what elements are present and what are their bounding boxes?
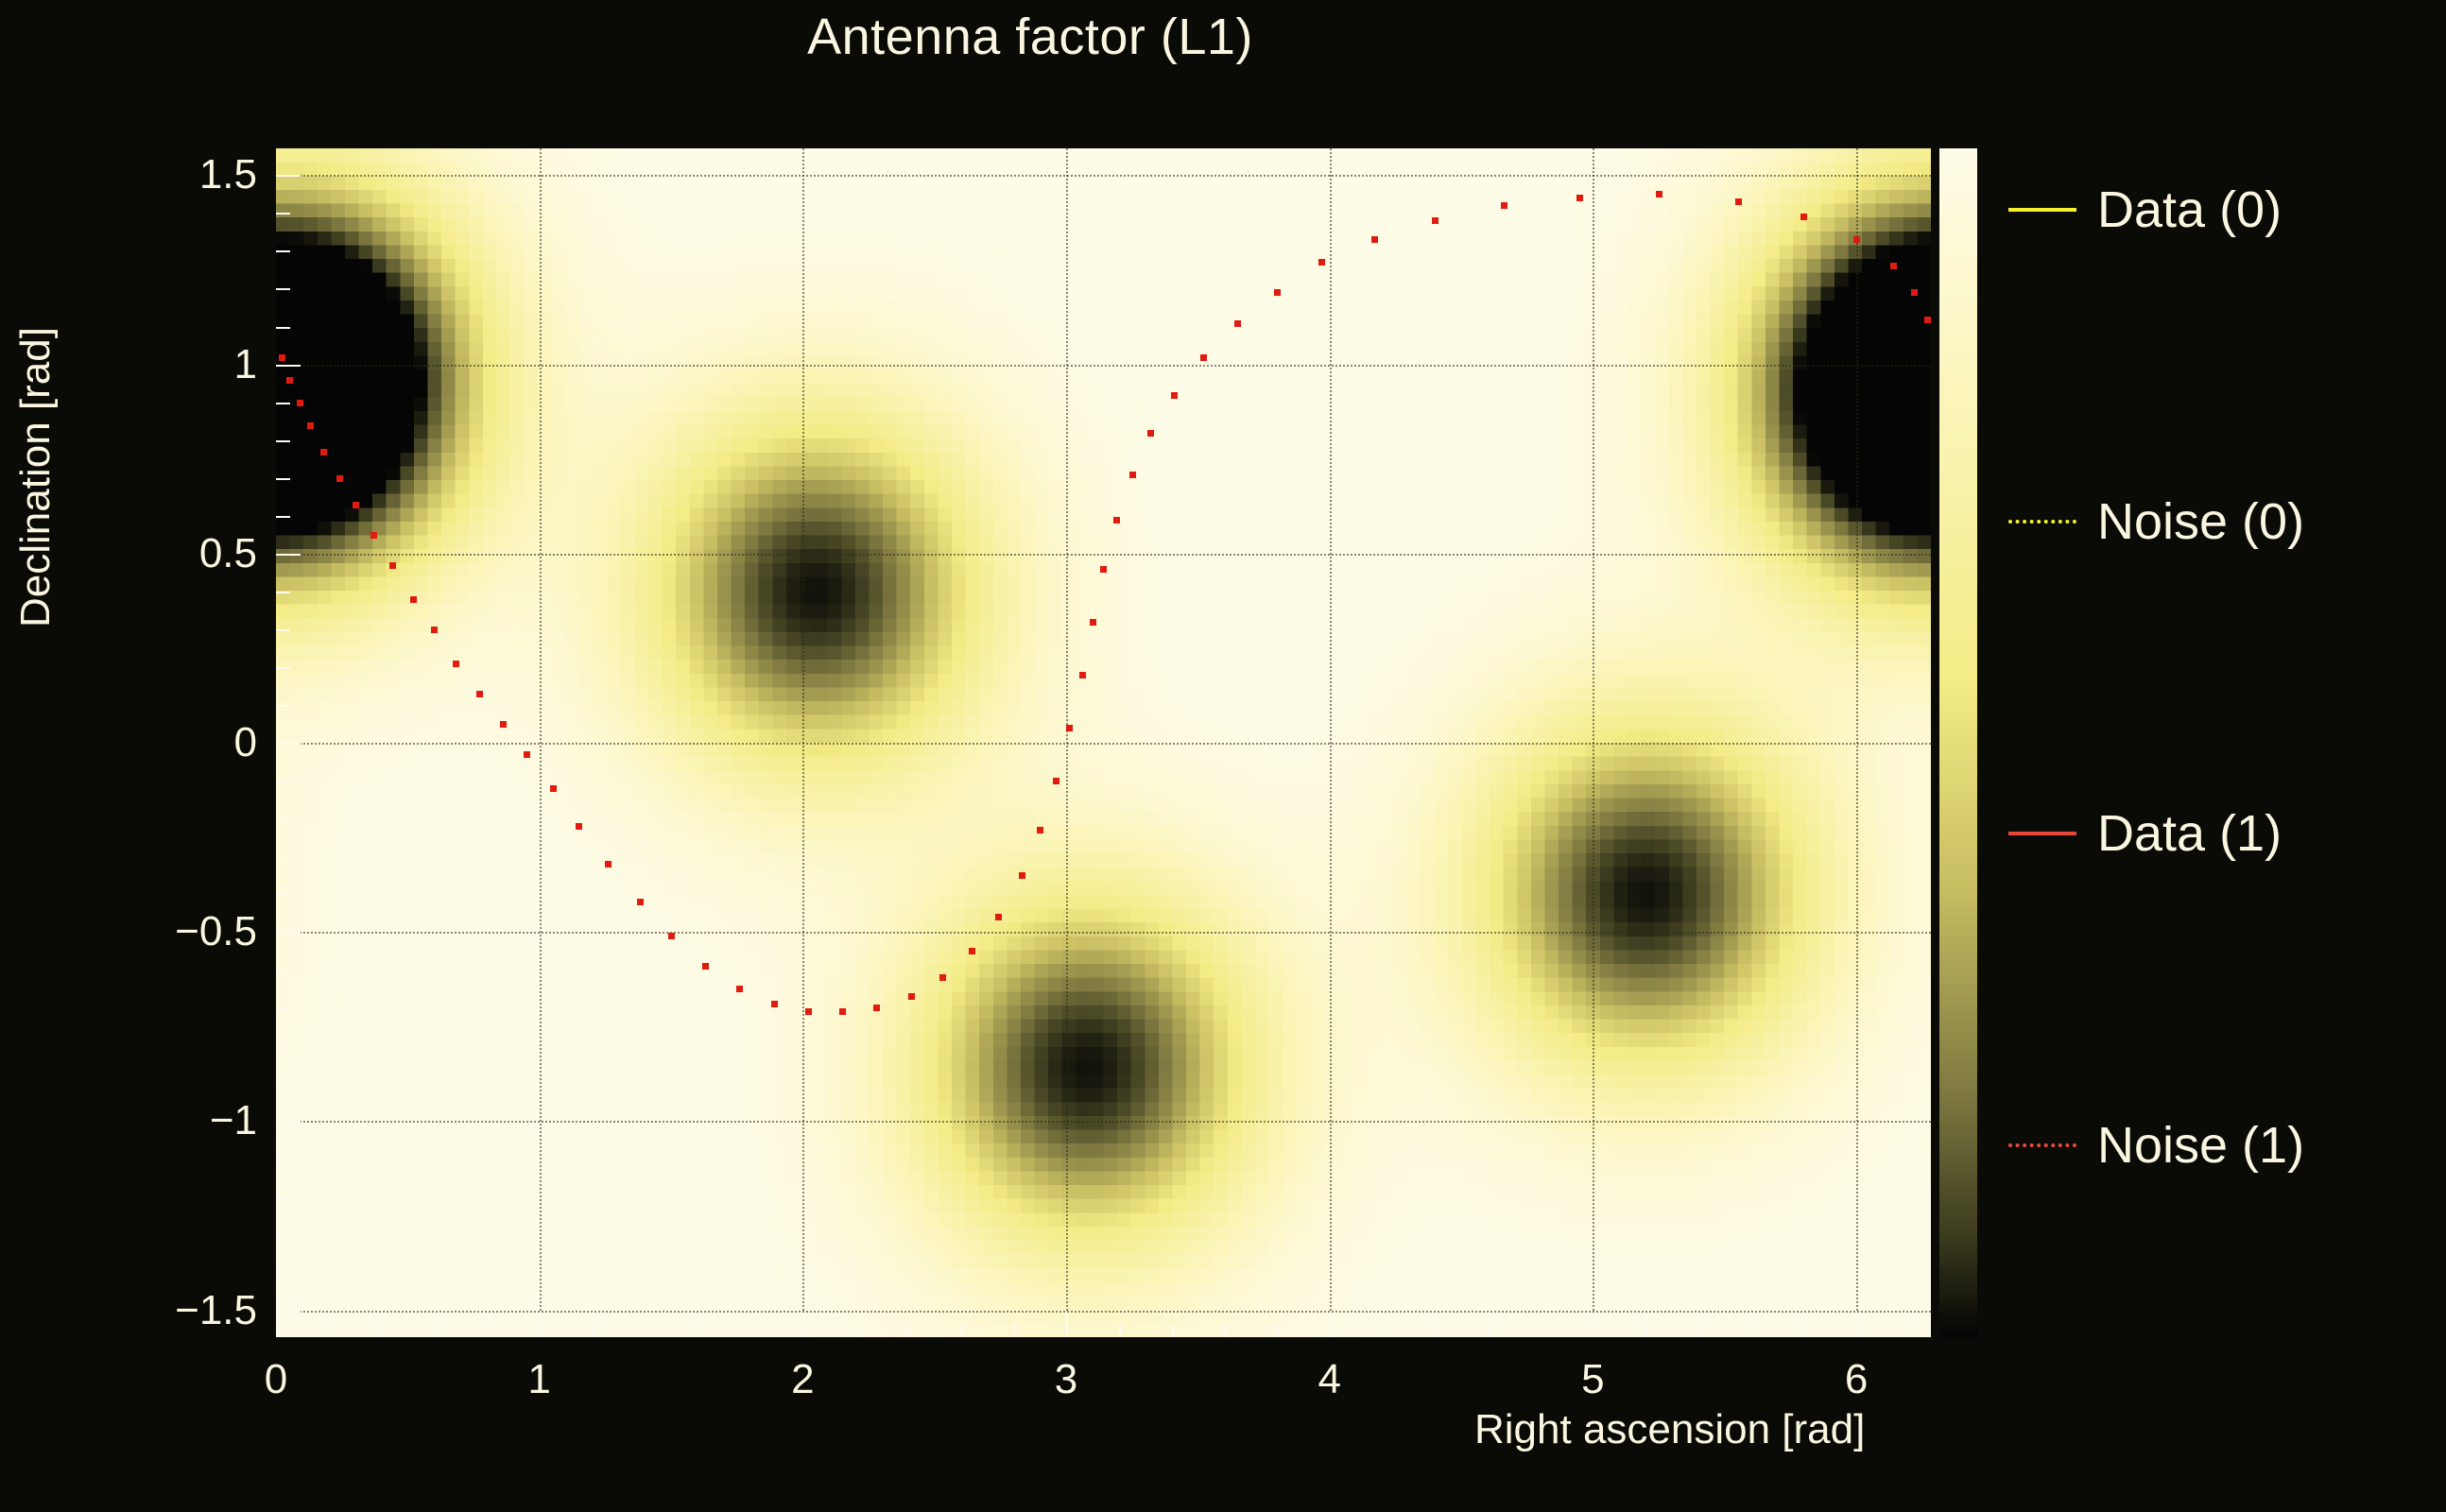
x-minor-tick	[1909, 1323, 1911, 1337]
data-point-marker	[453, 661, 459, 667]
colorbar	[1939, 148, 1977, 1337]
y-tick-label: −0.5	[125, 908, 257, 955]
y-tick-label: −1	[125, 1097, 257, 1144]
x-tick-label: 4	[1318, 1356, 1340, 1403]
legend-label: Data (1)	[2097, 808, 2282, 859]
y-minor-tick	[276, 629, 290, 631]
data-point-marker	[995, 914, 1002, 920]
x-minor-tick	[1435, 1323, 1437, 1337]
data-point-marker	[771, 1001, 778, 1007]
data-point-marker	[1019, 872, 1025, 879]
x-tick-label: 3	[1055, 1356, 1077, 1403]
x-tick-mark	[1593, 1313, 1594, 1337]
plot-area	[276, 148, 1931, 1337]
x-minor-tick	[698, 1323, 699, 1337]
data-point-marker	[1079, 672, 1086, 679]
y-minor-tick	[276, 1235, 290, 1237]
x-minor-tick	[855, 1323, 857, 1337]
data-point-marker	[1113, 517, 1120, 524]
x-minor-tick	[750, 1323, 752, 1337]
x-minor-tick	[1751, 1323, 1753, 1337]
x-minor-tick	[1382, 1323, 1384, 1337]
data-point-marker	[1501, 202, 1507, 209]
y-minor-tick	[276, 592, 290, 593]
y-minor-tick	[276, 667, 290, 669]
y-minor-tick	[276, 818, 290, 820]
legend-label: Noise (1)	[2097, 1120, 2304, 1171]
y-minor-tick	[276, 288, 290, 290]
data-point-marker	[389, 562, 396, 569]
y-minor-tick	[276, 781, 290, 782]
y-minor-tick	[276, 440, 290, 442]
x-tick-mark	[540, 1313, 542, 1337]
data-point-marker	[1735, 198, 1742, 205]
legend-item-data-0[interactable]: Data (0)	[2008, 184, 2282, 235]
data-point-marker	[550, 785, 557, 792]
x-minor-tick	[1172, 1323, 1174, 1337]
x-minor-tick	[1698, 1323, 1700, 1337]
y-minor-tick	[276, 705, 290, 707]
data-point-marker	[1924, 317, 1931, 323]
data-point-marker	[805, 1008, 812, 1015]
y-tick-label: 1.5	[125, 151, 257, 198]
y-minor-tick	[276, 970, 290, 971]
data-point-marker	[1371, 236, 1378, 243]
data-point-marker	[969, 948, 975, 954]
data-point-marker	[702, 963, 709, 970]
data-point-marker	[1234, 320, 1241, 327]
y-tick-label: 0.5	[125, 530, 257, 577]
y-tick-mark	[276, 932, 301, 934]
x-axis-title: Right ascension [rad]	[1474, 1406, 1865, 1453]
x-minor-tick	[1645, 1323, 1647, 1337]
data-point-marker	[500, 721, 507, 728]
x-minor-tick	[434, 1323, 436, 1337]
x-minor-tick	[1277, 1323, 1279, 1337]
data-point-marker	[1853, 236, 1860, 243]
x-tick-mark	[276, 1313, 278, 1337]
data-point-marker	[353, 502, 359, 508]
x-tick-mark	[1330, 1313, 1332, 1337]
data-point-marker	[336, 475, 343, 482]
data-point-marker	[307, 422, 314, 429]
x-minor-tick	[1224, 1323, 1226, 1337]
gridline-horizontal	[276, 554, 1931, 556]
x-minor-tick	[381, 1323, 383, 1337]
x-tick-mark	[1066, 1313, 1068, 1337]
x-minor-tick	[908, 1323, 910, 1337]
y-tick-mark	[276, 175, 301, 177]
data-point-marker	[1656, 191, 1662, 198]
data-point-marker	[1890, 263, 1897, 269]
x-tick-label: 0	[265, 1356, 287, 1403]
x-minor-tick	[487, 1323, 489, 1337]
y-tick-label: −1.5	[125, 1287, 257, 1334]
gridline-horizontal	[276, 175, 1931, 177]
chart-title: Antenna factor (L1)	[0, 8, 2060, 66]
y-minor-tick	[276, 856, 290, 858]
data-point-marker	[476, 691, 483, 697]
data-point-marker	[1090, 619, 1096, 626]
data-point-marker	[431, 627, 438, 633]
x-minor-tick	[1803, 1323, 1805, 1337]
x-minor-tick	[1541, 1323, 1542, 1337]
data-point-marker	[873, 1005, 880, 1011]
gridline-horizontal	[276, 743, 1931, 745]
y-tick-mark	[276, 554, 301, 556]
legend-swatch-noise-0	[2008, 520, 2076, 524]
gridline-horizontal	[276, 932, 1931, 934]
data-point-marker	[736, 986, 743, 992]
y-minor-tick	[276, 894, 290, 896]
x-minor-tick	[1013, 1323, 1015, 1337]
y-minor-tick	[276, 1197, 290, 1199]
legend-label: Data (0)	[2097, 184, 2282, 235]
data-point-marker	[1100, 566, 1107, 573]
data-point-marker	[1053, 778, 1059, 784]
data-point-marker	[1200, 354, 1207, 361]
legend-swatch-data-1	[2008, 832, 2076, 835]
data-point-marker	[1037, 827, 1043, 833]
data-point-marker	[297, 400, 303, 406]
legend-swatch-data-0	[2008, 208, 2076, 212]
y-tick-mark	[276, 743, 301, 745]
x-minor-tick	[329, 1323, 331, 1337]
data-point-marker	[1576, 195, 1583, 201]
y-minor-tick	[276, 478, 290, 480]
y-tick-label: 1	[125, 341, 257, 388]
x-tick-label: 5	[1581, 1356, 1604, 1403]
data-point-marker	[1318, 259, 1325, 266]
data-point-marker	[576, 823, 582, 830]
legend-label: Noise (0)	[2097, 496, 2304, 547]
figure-root: Antenna factor (L1) 0123456 1.510.50−0.5…	[0, 0, 2446, 1512]
data-point-marker	[1066, 725, 1073, 731]
data-point-marker	[1432, 217, 1438, 224]
y-minor-tick	[276, 403, 290, 404]
gridline-horizontal	[276, 1311, 1931, 1313]
y-minor-tick	[276, 1045, 290, 1047]
y-axis-title: Declination [rad]	[12, 279, 60, 676]
data-point-marker	[370, 532, 377, 539]
y-minor-tick	[276, 1273, 290, 1275]
data-point-marker	[279, 354, 285, 361]
x-minor-tick	[645, 1323, 646, 1337]
y-minor-tick	[276, 516, 290, 518]
y-tick-label: 0	[125, 719, 257, 766]
data-point-marker	[320, 449, 327, 455]
y-minor-tick	[276, 1007, 290, 1009]
data-point-marker	[286, 377, 293, 384]
data-point-marker	[908, 993, 915, 1000]
data-point-marker	[1911, 289, 1918, 296]
legend-item-data-1[interactable]: Data (1)	[2008, 808, 2282, 859]
y-tick-mark	[276, 1311, 301, 1313]
x-tick-label: 6	[1845, 1356, 1868, 1403]
legend-swatch-noise-1	[2008, 1143, 2076, 1147]
x-minor-tick	[961, 1323, 963, 1337]
y-tick-mark	[276, 1121, 301, 1123]
data-point-marker	[1800, 214, 1807, 220]
x-tick-label: 1	[527, 1356, 550, 1403]
legend-item-noise-0[interactable]: Noise (0)	[2008, 496, 2304, 547]
x-tick-mark	[802, 1313, 804, 1337]
x-tick-label: 2	[791, 1356, 814, 1403]
data-point-marker	[1171, 392, 1178, 399]
data-point-marker	[605, 861, 611, 868]
data-point-marker	[839, 1008, 846, 1015]
y-minor-tick	[276, 1159, 290, 1160]
x-minor-tick	[592, 1323, 594, 1337]
y-minor-tick	[276, 327, 290, 329]
gridline-horizontal	[276, 365, 1931, 367]
data-point-marker	[524, 751, 530, 758]
data-point-marker	[410, 596, 417, 603]
legend-item-noise-1[interactable]: Noise (1)	[2008, 1120, 2304, 1171]
y-minor-tick	[276, 250, 290, 252]
y-minor-tick	[276, 1083, 290, 1085]
data-point-marker	[1274, 289, 1281, 296]
x-minor-tick	[1488, 1323, 1490, 1337]
gridline-horizontal	[276, 1121, 1931, 1123]
x-minor-tick	[1119, 1323, 1121, 1337]
y-tick-mark	[276, 365, 301, 367]
data-point-marker	[1129, 472, 1136, 478]
data-point-marker	[939, 974, 946, 981]
x-tick-mark	[1856, 1313, 1858, 1337]
data-point-marker	[637, 899, 644, 905]
y-minor-tick	[276, 213, 290, 215]
data-point-marker	[1147, 430, 1154, 437]
data-point-marker	[668, 933, 675, 939]
